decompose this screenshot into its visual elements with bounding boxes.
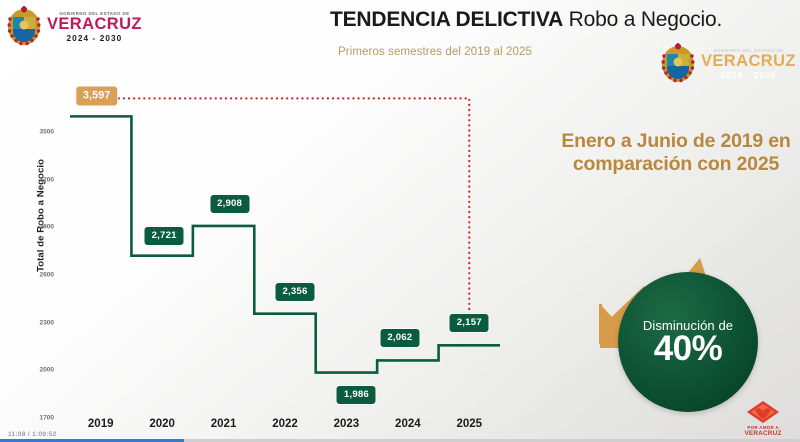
gov-logo-left-years: 2024 - 2030 [47, 35, 142, 43]
gov-logo-left-text: GOBIERNO DEL ESTADO DE VERACRUZ 2024 - 2… [47, 9, 142, 43]
gov-logo-right-main: VERACRUZ [701, 53, 796, 70]
y-axis-title: Total de Robo a Negocio [36, 141, 47, 291]
data-label: 2,356 [274, 282, 315, 302]
data-label: 3,597 [75, 86, 119, 107]
x-axis-tick: 2019 [88, 418, 114, 430]
gov-logo-right-years: 2024 - 2030 [701, 72, 796, 80]
gov-logo-left: GOBIERNO DEL ESTADO DE VERACRUZ 2024 - 2… [6, 3, 134, 49]
corner-logo-text: POR AMOR A VERACRUZ [732, 425, 794, 438]
title-rest: Robo a Negocio. [563, 8, 722, 31]
x-axis-tick: 2022 [272, 418, 298, 430]
badge-percent: 40% [654, 331, 723, 366]
x-axis-tick: 2021 [211, 418, 237, 430]
trend-chart: Total de Robo a Negocio 3500320029002600… [0, 60, 560, 442]
data-label: 2,721 [144, 226, 185, 246]
y-axis-tick: 2300 [20, 319, 54, 326]
y-axis-tick: 2000 [20, 367, 54, 374]
corner-logo-line2: VERACRUZ [744, 430, 781, 437]
gov-logo-right: GOBIERNO DEL ESTADO DE VERACRUZ 2024 - 2… [660, 38, 792, 88]
x-axis-tick: 2020 [149, 418, 175, 430]
video-timestamp: 11:08 / 1:09:52 [8, 431, 57, 438]
gov-logo-right-text: GOBIERNO DEL ESTADO DE VERACRUZ 2024 - 2… [701, 46, 796, 80]
data-label: 2,908 [209, 194, 250, 214]
x-axis-tick: 2024 [395, 418, 421, 430]
data-label: 1,986 [336, 385, 377, 405]
page-subtitle: Primeros semestres del 2019 al 2025 [338, 46, 532, 58]
page-title: TENDENCIA DELICTIVA Robo a Negocio. [330, 8, 780, 31]
chart-plot-area [0, 60, 560, 442]
data-label: 2,062 [379, 328, 420, 348]
x-axis-tick: 2025 [456, 418, 482, 430]
veracruz-coat-of-arms-icon [660, 42, 696, 84]
x-axis-tick: 2023 [334, 418, 360, 430]
y-axis-tick: 3500 [20, 128, 54, 135]
y-axis-tick: 1700 [20, 415, 54, 422]
y-axis-tick: 2600 [20, 271, 54, 278]
corner-logo: POR AMOR A VERACRUZ [732, 400, 794, 438]
veracruz-coat-of-arms-icon [6, 5, 42, 47]
gov-logo-left-main: VERACRUZ [47, 16, 142, 33]
status-badge: Disminución de 40% [618, 272, 758, 412]
comparison-callout: Enero a Junio de 2019 en comparación con… [560, 130, 792, 175]
y-axis-tick: 2900 [20, 224, 54, 231]
y-axis-tick: 3200 [20, 176, 54, 183]
data-label: 2,157 [449, 313, 490, 333]
veracruz-heart-diamond-icon [746, 400, 780, 424]
corner-logo-line1: POR AMOR A [747, 425, 778, 430]
slide-canvas: GOBIERNO DEL ESTADO DE VERACRUZ 2024 - 2… [0, 0, 800, 442]
title-strong: TENDENCIA DELICTIVA [330, 8, 563, 31]
step-line-series [70, 116, 500, 372]
